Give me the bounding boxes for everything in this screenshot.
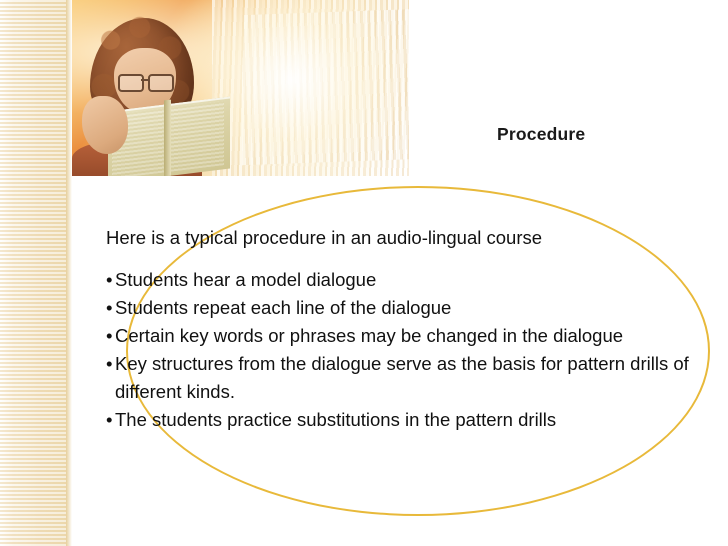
- bullet-icon: •: [106, 350, 112, 378]
- bullet-icon: •: [106, 406, 112, 434]
- list-item-text: The students practice substitutions in t…: [115, 409, 556, 430]
- bullet-icon: •: [106, 322, 112, 350]
- list-item: •Students hear a model dialogue: [106, 266, 706, 294]
- list-item-text: Certain key words or phrases may be chan…: [115, 325, 623, 346]
- slide-canvas: Procedure Here is a typical procedure in…: [0, 0, 728, 546]
- list-item-text: Key structures from the dialogue serve a…: [115, 353, 689, 402]
- bullet-icon: •: [106, 294, 112, 322]
- glasses-right-lens: [148, 74, 174, 92]
- slide-body: Here is a typical procedure in an audio-…: [106, 224, 706, 434]
- list-item-text: Students repeat each line of the dialogu…: [115, 297, 451, 318]
- reading-woman-photo: [72, 0, 409, 176]
- slide-title: Procedure: [497, 124, 585, 145]
- procedure-bullet-list: •Students hear a model dialogue •Student…: [106, 266, 706, 434]
- list-item-text: Students hear a model dialogue: [115, 269, 376, 290]
- list-item: •The students practice substitutions in …: [106, 406, 706, 434]
- list-item: •Students repeat each line of the dialog…: [106, 294, 706, 322]
- bullet-icon: •: [106, 266, 112, 294]
- decorative-left-band: [0, 0, 72, 546]
- list-item: •Certain key words or phrases may be cha…: [106, 322, 706, 350]
- book-spine: [164, 100, 171, 176]
- glasses-icon: [118, 74, 174, 89]
- glasses-left-lens: [118, 74, 144, 92]
- lead-paragraph: Here is a typical procedure in an audio-…: [106, 224, 706, 252]
- list-item: •Key structures from the dialogue serve …: [106, 350, 706, 406]
